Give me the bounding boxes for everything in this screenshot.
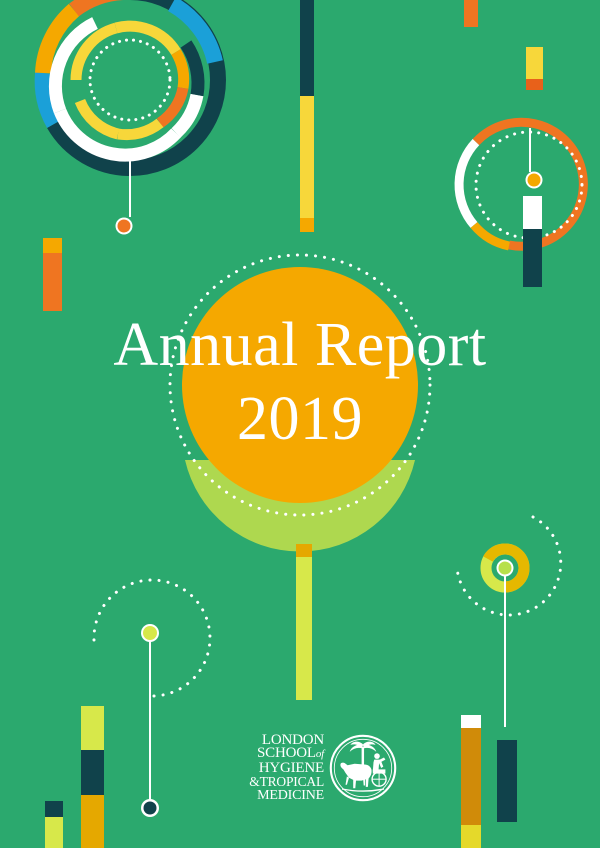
decorative-graphics-layer: [0, 0, 600, 848]
bar-bottom-right-navy: [497, 740, 517, 822]
logo-word-school: SCHOOL: [257, 745, 316, 761]
logo-wordmark: LONDON SCHOOLof HYGIENE &TROPICAL MEDICI…: [212, 734, 324, 803]
centre-title-disc: [182, 267, 418, 552]
lshtm-logo: LONDON SCHOOLof HYGIENE &TROPICAL MEDICI…: [212, 722, 398, 814]
bar-top-right-small: [526, 47, 543, 90]
logo-line-hygiene: HYGIENE: [212, 762, 324, 776]
report-cover-page: Annual Report 2019 LONDON SCHOOLof HYGIE…: [0, 0, 600, 848]
logo-line-tropical: &TROPICAL: [212, 775, 324, 789]
bar-top-centre: [300, 0, 314, 232]
bar-bottom-left-short: [45, 801, 63, 848]
logo-word-of: of: [316, 748, 324, 760]
lshtm-crest-icon: [328, 733, 398, 803]
bar-left-orange: [43, 238, 62, 311]
logo-line-medicine: MEDICINE: [212, 789, 324, 803]
bar-bottom-left-tall: [81, 706, 104, 848]
bar-bottom-right-gold: [461, 715, 481, 848]
bar-centre-lime: [296, 544, 312, 700]
bar-top-right-orange: [464, 0, 478, 27]
bar-top-right-under-ring: [523, 196, 542, 287]
